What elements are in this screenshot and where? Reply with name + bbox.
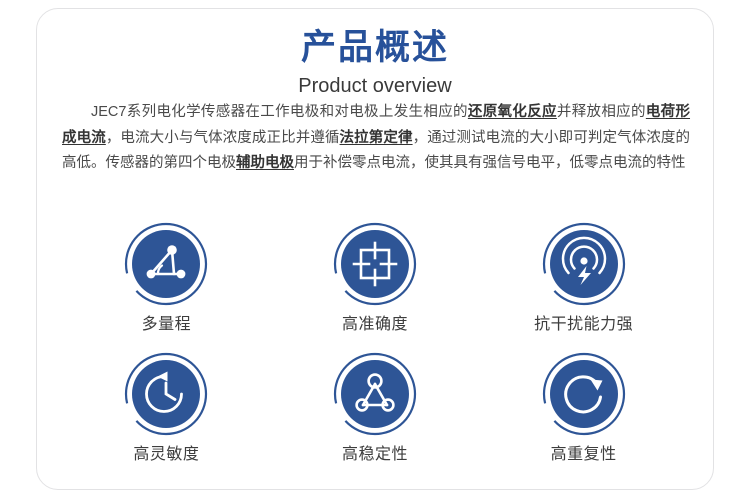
feature-label: 高准确度 [342, 315, 408, 335]
feature-item-high-sensitivity: 高灵敏度 [62, 352, 271, 482]
crosshair-target-icon [333, 222, 417, 306]
feature-item-multi-range: 多量程 [62, 222, 271, 352]
feature-label: 高灵敏度 [133, 445, 199, 465]
signal-wave-bolt-icon [542, 222, 626, 306]
feature-grid: 多量程 [62, 222, 688, 482]
multi-range-triangle-icon [124, 222, 208, 306]
feature-item-anti-interference: 抗干扰能力强 [479, 222, 688, 352]
overview-text: 并释放相应的 [557, 104, 646, 120]
overview-emphasis: 还原氧化反应 [468, 104, 557, 120]
overview-text: ，电流大小与气体浓度成正比并遵循 [106, 130, 340, 146]
overview-emphasis: 法拉第定律 [340, 130, 413, 146]
feature-item-high-accuracy: 高准确度 [271, 222, 480, 352]
panel-content: 产品概述 Product overview JEC7系列电化学传感器在工作电极和… [0, 0, 750, 498]
page-title: 产品概述 [0, 28, 750, 68]
clock-fast-response-icon [124, 352, 208, 436]
product-overview-page: 产品概述 Product overview JEC7系列电化学传感器在工作电极和… [0, 0, 750, 498]
overview-paragraph: JEC7系列电化学传感器在工作电极和对电极上发生相应的还原氧化反应并释放相应的电… [62, 100, 690, 177]
feature-item-high-stability: 高稳定性 [271, 352, 480, 482]
feature-label: 多量程 [142, 315, 192, 335]
circular-repeat-arrow-icon [542, 352, 626, 436]
page-subtitle: Product overview [0, 74, 750, 98]
overview-text: JEC7系列电化学传感器在工作电极和对电极上发生相应的 [91, 104, 468, 120]
feature-label: 高重复性 [551, 445, 617, 465]
feature-item-high-repeatability: 高重复性 [479, 352, 688, 482]
overview-text: 用于补偿零点电流，使其具有强信号电平，低零点电流的特性 [294, 155, 686, 171]
feature-label: 高稳定性 [342, 445, 408, 465]
overview-emphasis: 辅助电极 [236, 155, 294, 171]
feature-label: 抗干扰能力强 [534, 315, 633, 335]
triangle-nodes-icon [333, 352, 417, 436]
